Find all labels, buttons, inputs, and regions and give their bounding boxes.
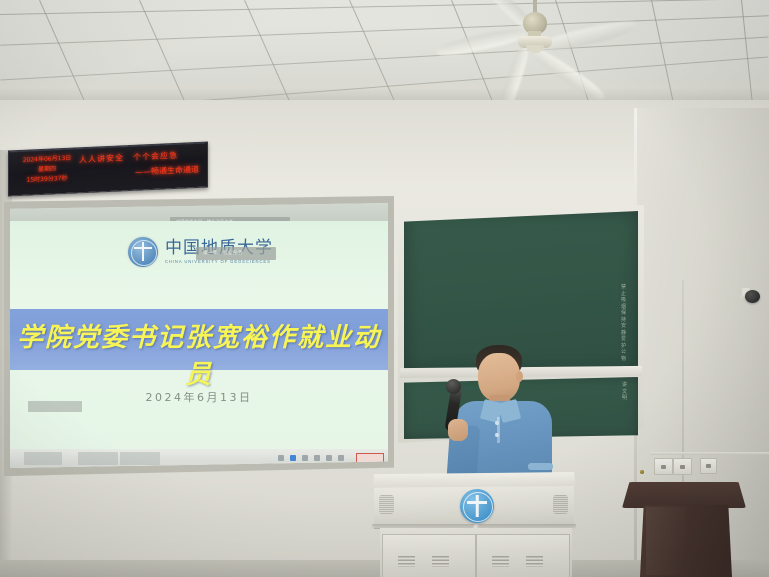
chalkboard-side-text-lower: 讲文明 [620,382,629,410]
cabinet-vent [492,556,509,567]
cabinet-vent [432,556,449,567]
cabinet-vent [398,556,415,567]
slide-placeholder-chip [28,401,82,412]
led-time: 15时39分37秒 [16,173,78,186]
wall-screw [640,470,644,474]
wall-conduit [650,452,769,455]
tray-icon[interactable] [302,455,308,461]
security-camera-icon [745,290,760,303]
led-scrolling-banner: 2024年06月13日 星期四 15时39分37秒 人人讲安全 个个会应急 ——… [8,141,208,196]
power-outlet[interactable] [673,458,692,475]
projection-screen: 中国地质大学 就业动员大会 中国地质大学 CHINA UNIVERSITY OF… [10,203,388,468]
power-outlet[interactable] [654,458,673,475]
podium-cabinet-door-left[interactable] [382,534,476,577]
tray-icon[interactable] [314,455,320,461]
tray-icon[interactable] [326,455,332,461]
shirt-button [495,433,499,437]
slide-corner-chip-label: 第一章 就业形势 [196,247,276,256]
tray-icon[interactable] [338,455,344,461]
cabinet-vent [526,556,543,567]
network-jack[interactable] [700,458,717,474]
podium-speaker-grille-left [379,495,394,514]
slide-title: 学院党委书记张宽裕作就业动员 [10,317,388,391]
taskbar-app-powerpoint[interactable] [120,452,160,465]
podium-speaker-grille-right [553,495,568,514]
classroom-scene: 2024年06月13日 星期四 15时39分37秒 人人讲安全 个个会应急 ——… [0,0,769,577]
taskbar-app-explorer[interactable] [78,452,118,465]
podium-cabinet-door-right[interactable] [476,534,570,577]
slide-corner-chip: 第一章 就业形势 [196,247,276,260]
shirt-sleeve-cuff [528,463,553,470]
presenter-ear [516,371,523,382]
wooden-lectern-top [622,482,746,508]
slide-canvas: 中国地质大学 CHINA UNIVERSITY OF GEOSCIENCES 第… [10,221,388,468]
shirt-button [495,421,499,425]
university-emblem-icon [128,237,158,267]
tray-icon-network[interactable] [290,455,296,461]
taskbar-start-button[interactable] [24,452,62,465]
chalkboard-side-text-upper: 禁止吸烟保持安静爱护公物 [619,284,628,370]
tray-icon[interactable] [278,455,284,461]
presenter-hand [448,419,468,441]
podium-university-emblem-icon [460,489,494,523]
